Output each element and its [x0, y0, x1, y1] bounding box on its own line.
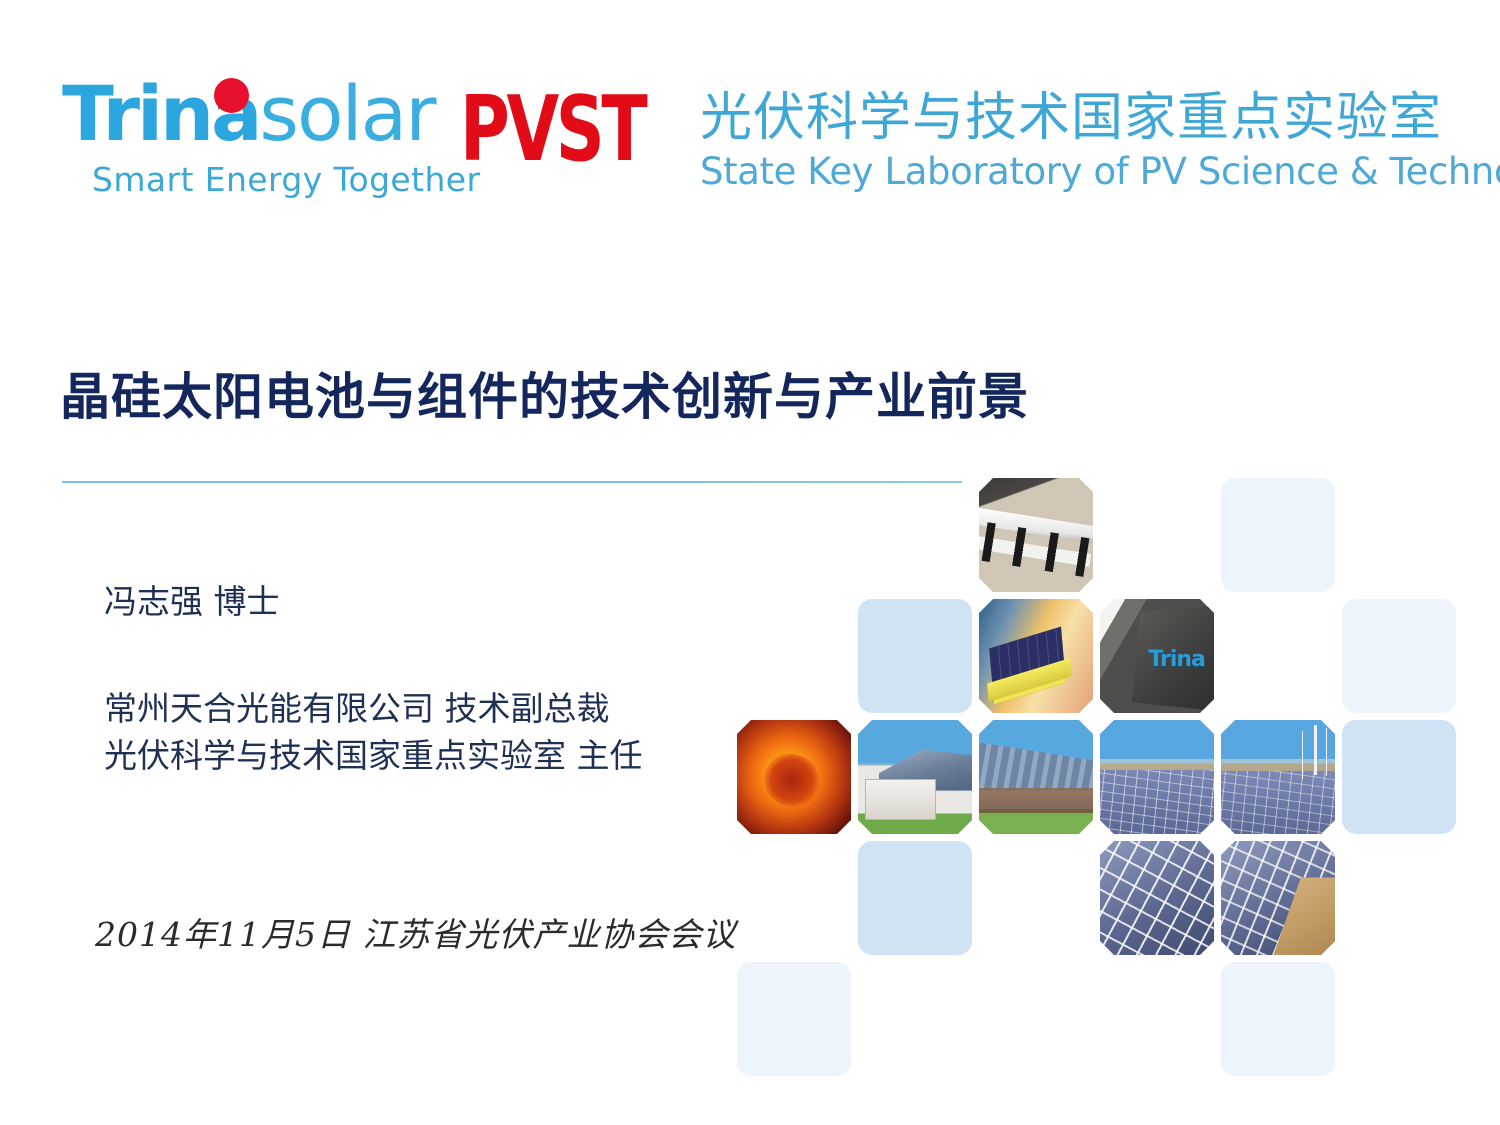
molten-silicon-photo-image: [737, 720, 851, 834]
trina-wordmark: Trinasolar: [62, 72, 434, 156]
pv-field-wind-photo-image: [1221, 720, 1335, 834]
pale-tile-top-right: [1221, 478, 1335, 592]
trina-building-photo: [1100, 599, 1214, 713]
pale-tile-row4-right: [1221, 962, 1335, 1076]
pale-tile-row2-right: [1342, 720, 1456, 834]
lab-name-english: State Key Laboratory of PV Science & Tec…: [700, 150, 1490, 194]
lab-name-chinese: 光伏科学与技术国家重点实验室: [700, 88, 1490, 148]
trina-solar-logo: Trinasolar Smart Energy Together: [62, 72, 462, 204]
trina-red-dot-icon: [214, 78, 249, 113]
trina-building-photo-image: [1100, 599, 1214, 713]
author-affiliation-lab: 光伏科学与技术国家重点实验室 主任: [104, 732, 744, 779]
module-rows-photo-image: [1221, 841, 1335, 955]
lab-name-block: 光伏科学与技术国家重点实验室 State Key Laboratory of P…: [700, 88, 1490, 194]
solar-cell-lamp-photo: [979, 599, 1093, 713]
long-roof-pv-photo: [979, 720, 1093, 834]
long-roof-pv-photo-image: [979, 720, 1093, 834]
pale-tile-row1-left: [858, 599, 972, 713]
trina-word-secondary: solar: [259, 69, 434, 158]
slide-header: Trinasolar Smart Energy Together PVST 光伏…: [0, 0, 1500, 230]
author-affiliation-company: 常州天合光能有限公司 技术副总裁: [104, 685, 744, 732]
pale-tile-row4-left: [737, 962, 851, 1076]
pv-field-photo-image: [1100, 720, 1214, 834]
pale-tile-row1-right: [1342, 599, 1456, 713]
mounting-rails-photo: [979, 478, 1093, 592]
barn-roof-pv-photo-image: [858, 720, 972, 834]
molten-silicon-photo: [737, 720, 851, 834]
slide-canvas: Trinasolar Smart Energy Together PVST 光伏…: [0, 0, 1500, 1125]
module-rows-photo: [1221, 841, 1335, 955]
pvst-logo: PVST: [460, 84, 644, 176]
module-closeup-photo-image: [1100, 841, 1214, 955]
pv-field-photo: [1100, 720, 1214, 834]
event-date-line: 2014年11月5日 江苏省光伏产业协会会议: [95, 908, 736, 956]
pv-field-wind-photo: [1221, 720, 1335, 834]
solar-cell-lamp-photo-image: [979, 599, 1093, 713]
pale-tile-row3-left: [858, 841, 972, 955]
trina-tagline: Smart Energy Together: [92, 160, 480, 199]
author-name: 冯志强 博士: [104, 578, 744, 625]
page-title: 晶硅太阳电池与组件的技术创新与产业前景: [60, 366, 1029, 428]
author-block: 冯志强 博士 常州天合光能有限公司 技术副总裁 光伏科学与技术国家重点实验室 主…: [104, 578, 744, 779]
barn-roof-pv-photo: [858, 720, 972, 834]
mounting-rails-photo-image: [979, 478, 1093, 592]
module-closeup-photo: [1100, 841, 1214, 955]
photo-mosaic: [737, 478, 1467, 1078]
